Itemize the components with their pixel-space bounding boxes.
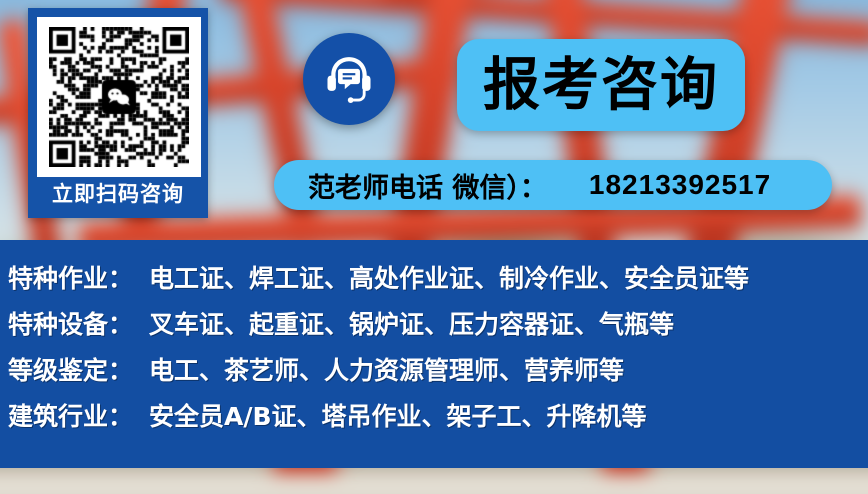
concrete-slab	[0, 474, 868, 494]
qr-code-card[interactable]: 立即扫码咨询	[28, 8, 208, 218]
headset-support-icon	[322, 52, 376, 106]
title-pill: 报考咨询	[457, 39, 745, 131]
page-title: 报考咨询	[483, 57, 719, 114]
info-row: 建筑行业： 安全员A/B证、塔吊作业、架子工、升降机等	[0, 392, 868, 438]
headset-support-badge[interactable]	[303, 33, 395, 125]
contact-phone-number[interactable]: 18213392517	[589, 169, 771, 201]
info-row: 特种作业： 电工证、焊工证、高处作业证、制冷作业、安全员证等	[0, 254, 868, 300]
info-row: 等级鉴定： 电工、茶艺师、人力资源管理师、营养师等	[0, 346, 868, 392]
contact-label: 范老师电话 微信）：	[308, 166, 547, 205]
info-items: 电工、茶艺师、人力资源管理师、营养师等	[149, 351, 624, 387]
info-items: 安全员A/B证、塔吊作业、架子工、升降机等	[149, 397, 647, 433]
qr-code-image[interactable]	[49, 27, 189, 167]
promo-poster: 立即扫码咨询 报考咨询 范老师电话 微信）： 18213392517 特种作业：…	[0, 0, 868, 494]
contact-pill[interactable]: 范老师电话 微信）： 18213392517	[274, 160, 832, 210]
info-row: 特种设备： 叉车证、起重证、锅炉证、压力容器证、气瓶等	[0, 300, 868, 346]
certification-list-panel: 特种作业： 电工证、焊工证、高处作业证、制冷作业、安全员证等 特种设备： 叉车证…	[0, 240, 868, 468]
info-category: 建筑行业：	[8, 397, 133, 433]
info-items: 电工证、焊工证、高处作业证、制冷作业、安全员证等	[149, 259, 749, 295]
qr-code-label: 立即扫码咨询	[31, 176, 205, 212]
info-items: 叉车证、起重证、锅炉证、压力容器证、气瓶等	[149, 305, 674, 341]
qr-code-white-area	[37, 17, 201, 177]
info-category: 特种作业：	[8, 259, 133, 295]
info-category: 特种设备：	[8, 305, 133, 341]
info-category: 等级鉴定：	[8, 351, 133, 387]
